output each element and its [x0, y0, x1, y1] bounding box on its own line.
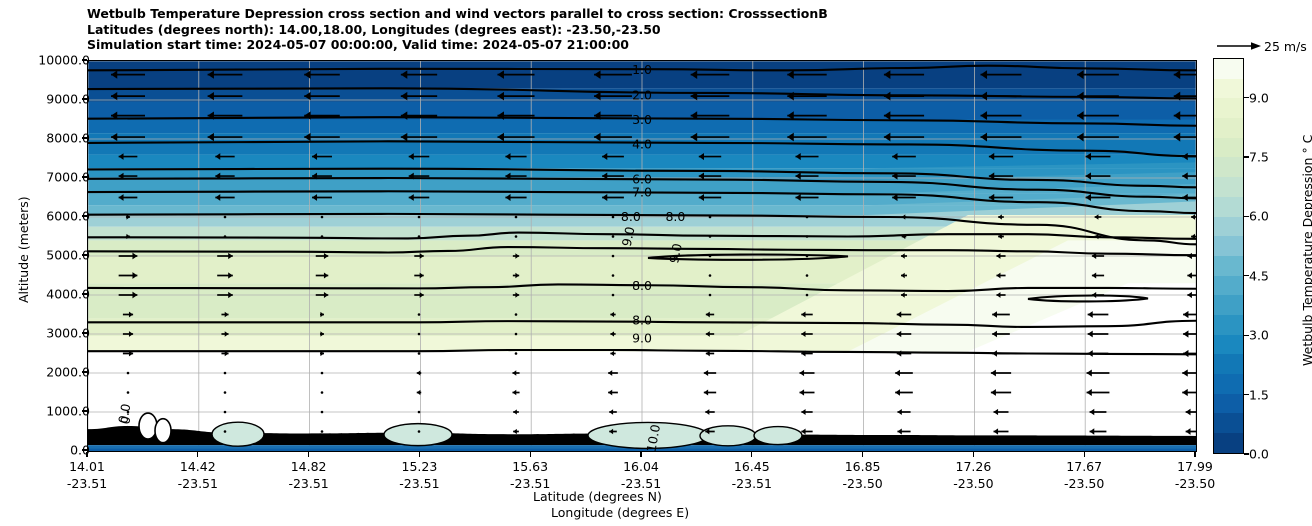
svg-text:7.0: 7.0 — [632, 184, 652, 199]
x-tick-label-latitude: 17.67 — [1066, 459, 1102, 474]
x-tick-label-latitude: 16.04 — [623, 459, 659, 474]
colorbar-segment — [1214, 79, 1243, 99]
x-tick-label-latitude: 15.63 — [512, 459, 548, 474]
y-tick-mark — [82, 332, 87, 333]
x-axis-label-latitude: Latitude (degrees N) — [533, 489, 662, 504]
x-tick-mark — [1084, 452, 1085, 457]
svg-text:1.0: 1.0 — [632, 62, 652, 77]
plot-canvas: 1.02.03.04.06.07.08.08.09.09.08.08.09.00… — [88, 61, 1196, 451]
colorbar-segment — [1214, 374, 1243, 394]
x-tick-mark — [640, 452, 641, 457]
x-tick-mark — [308, 452, 309, 457]
x-tick-mark — [86, 452, 87, 457]
title-line-1: Wetbulb Temperature Depression cross sec… — [87, 6, 1087, 22]
colorbar-tick-mark — [1244, 97, 1249, 98]
colorbar-segment — [1214, 354, 1243, 374]
x-tick-label-latitude: 15.23 — [401, 459, 437, 474]
colorbar-segment — [1214, 177, 1243, 197]
colorbar-segment — [1214, 59, 1243, 79]
colorbar-segment — [1214, 256, 1243, 276]
colorbar-segment — [1214, 236, 1243, 256]
x-tick-label-latitude: 14.01 — [69, 459, 105, 474]
x-tick-mark — [751, 452, 752, 457]
colorbar-tick-label: 0.0 — [1249, 447, 1269, 462]
colorbar-tick-mark — [1244, 275, 1249, 276]
colorbar-segment — [1214, 138, 1243, 158]
title-line-2: Latitudes (degrees north): 14.00,18.00, … — [87, 22, 1087, 38]
y-tick-mark — [82, 254, 87, 255]
colorbar-tick-mark — [1244, 394, 1249, 395]
x-tick-mark — [1194, 452, 1195, 457]
colorbar-segment — [1214, 197, 1243, 217]
x-tick-label-latitude: 14.42 — [180, 459, 216, 474]
colorbar-tick-mark — [1244, 216, 1249, 217]
colorbar-segment — [1214, 413, 1243, 433]
colorbar-tick-mark — [1244, 453, 1249, 454]
quiver-key-label: 25 m/s — [1264, 39, 1307, 54]
x-tick-label-latitude: 17.99 — [1177, 459, 1213, 474]
colorbar-tick-label: 9.0 — [1249, 90, 1269, 105]
colorbar-segment — [1214, 217, 1243, 237]
x-axis-label-longitude: Longitude (degrees E) — [551, 505, 689, 520]
svg-text:2.0: 2.0 — [632, 88, 652, 103]
colorbar-label: Wetbulb Temperature Depression ° C — [1300, 135, 1312, 366]
y-tick-mark — [82, 137, 87, 138]
title-line-3: Simulation start time: 2024-05-07 00:00:… — [87, 37, 1087, 53]
y-tick-mark — [82, 98, 87, 99]
x-tick-label-latitude: 16.85 — [845, 459, 881, 474]
chart-title-block: Wetbulb Temperature Depression cross sec… — [87, 6, 1087, 53]
svg-text:3.0: 3.0 — [632, 112, 652, 127]
x-tick-mark — [419, 452, 420, 457]
colorbar-segment — [1214, 98, 1243, 118]
colorbar-segment — [1214, 157, 1243, 177]
colorbar-segment — [1214, 335, 1243, 355]
y-tick-mark — [82, 215, 87, 216]
x-tick-mark — [530, 452, 531, 457]
y-tick-mark — [82, 410, 87, 411]
y-tick-mark — [82, 59, 87, 60]
x-tick-label-latitude: 14.82 — [291, 459, 327, 474]
quiver-key: 25 m/s — [1213, 38, 1312, 58]
x-tick-label-longitude: -23.51 — [288, 476, 328, 491]
colorbar[interactable] — [1213, 58, 1244, 454]
x-tick-label-longitude: -23.50 — [953, 476, 993, 491]
colorbar-segment — [1214, 118, 1243, 138]
y-tick-mark — [82, 371, 87, 372]
y-axis-label: Altitude (meters) — [16, 196, 31, 303]
svg-text:9.0: 9.0 — [632, 331, 652, 346]
colorbar-tick-label: 7.5 — [1249, 150, 1269, 165]
x-tick-label-longitude: -23.50 — [842, 476, 882, 491]
svg-text:4.0: 4.0 — [632, 136, 652, 151]
y-tick-mark — [82, 176, 87, 177]
colorbar-segment — [1214, 315, 1243, 335]
x-tick-label-latitude: 16.45 — [734, 459, 770, 474]
colorbar-tick-label: 6.0 — [1249, 209, 1269, 224]
svg-text:8.0: 8.0 — [665, 209, 685, 224]
x-tick-label-latitude: 17.26 — [955, 459, 991, 474]
x-tick-label-longitude: -23.51 — [399, 476, 439, 491]
cross-section-plot[interactable]: 1.02.03.04.06.07.08.08.09.09.08.08.09.00… — [87, 60, 1197, 452]
x-tick-label-longitude: -23.51 — [178, 476, 218, 491]
x-tick-mark — [197, 452, 198, 457]
x-tick-label-longitude: -23.50 — [1175, 476, 1215, 491]
colorbar-tick-mark — [1244, 156, 1249, 157]
colorbar-tick-label: 4.5 — [1249, 268, 1269, 283]
colorbar-segment — [1214, 394, 1243, 414]
x-tick-mark — [973, 452, 974, 457]
colorbar-segment — [1214, 433, 1243, 453]
colorbar-tick-mark — [1244, 335, 1249, 336]
svg-text:8.0: 8.0 — [632, 313, 652, 328]
colorbar-segment — [1214, 295, 1243, 315]
y-tick-mark — [82, 293, 87, 294]
x-tick-mark — [862, 452, 863, 457]
colorbar-segment — [1214, 276, 1243, 296]
x-tick-label-longitude: -23.51 — [67, 476, 107, 491]
y-tick-mark — [82, 449, 87, 450]
x-tick-label-longitude: -23.51 — [732, 476, 772, 491]
svg-text:8.0: 8.0 — [632, 278, 652, 293]
colorbar-tick-label: 1.5 — [1249, 387, 1269, 402]
colorbar-tick-label: 3.0 — [1249, 328, 1269, 343]
x-tick-label-longitude: -23.50 — [1064, 476, 1104, 491]
